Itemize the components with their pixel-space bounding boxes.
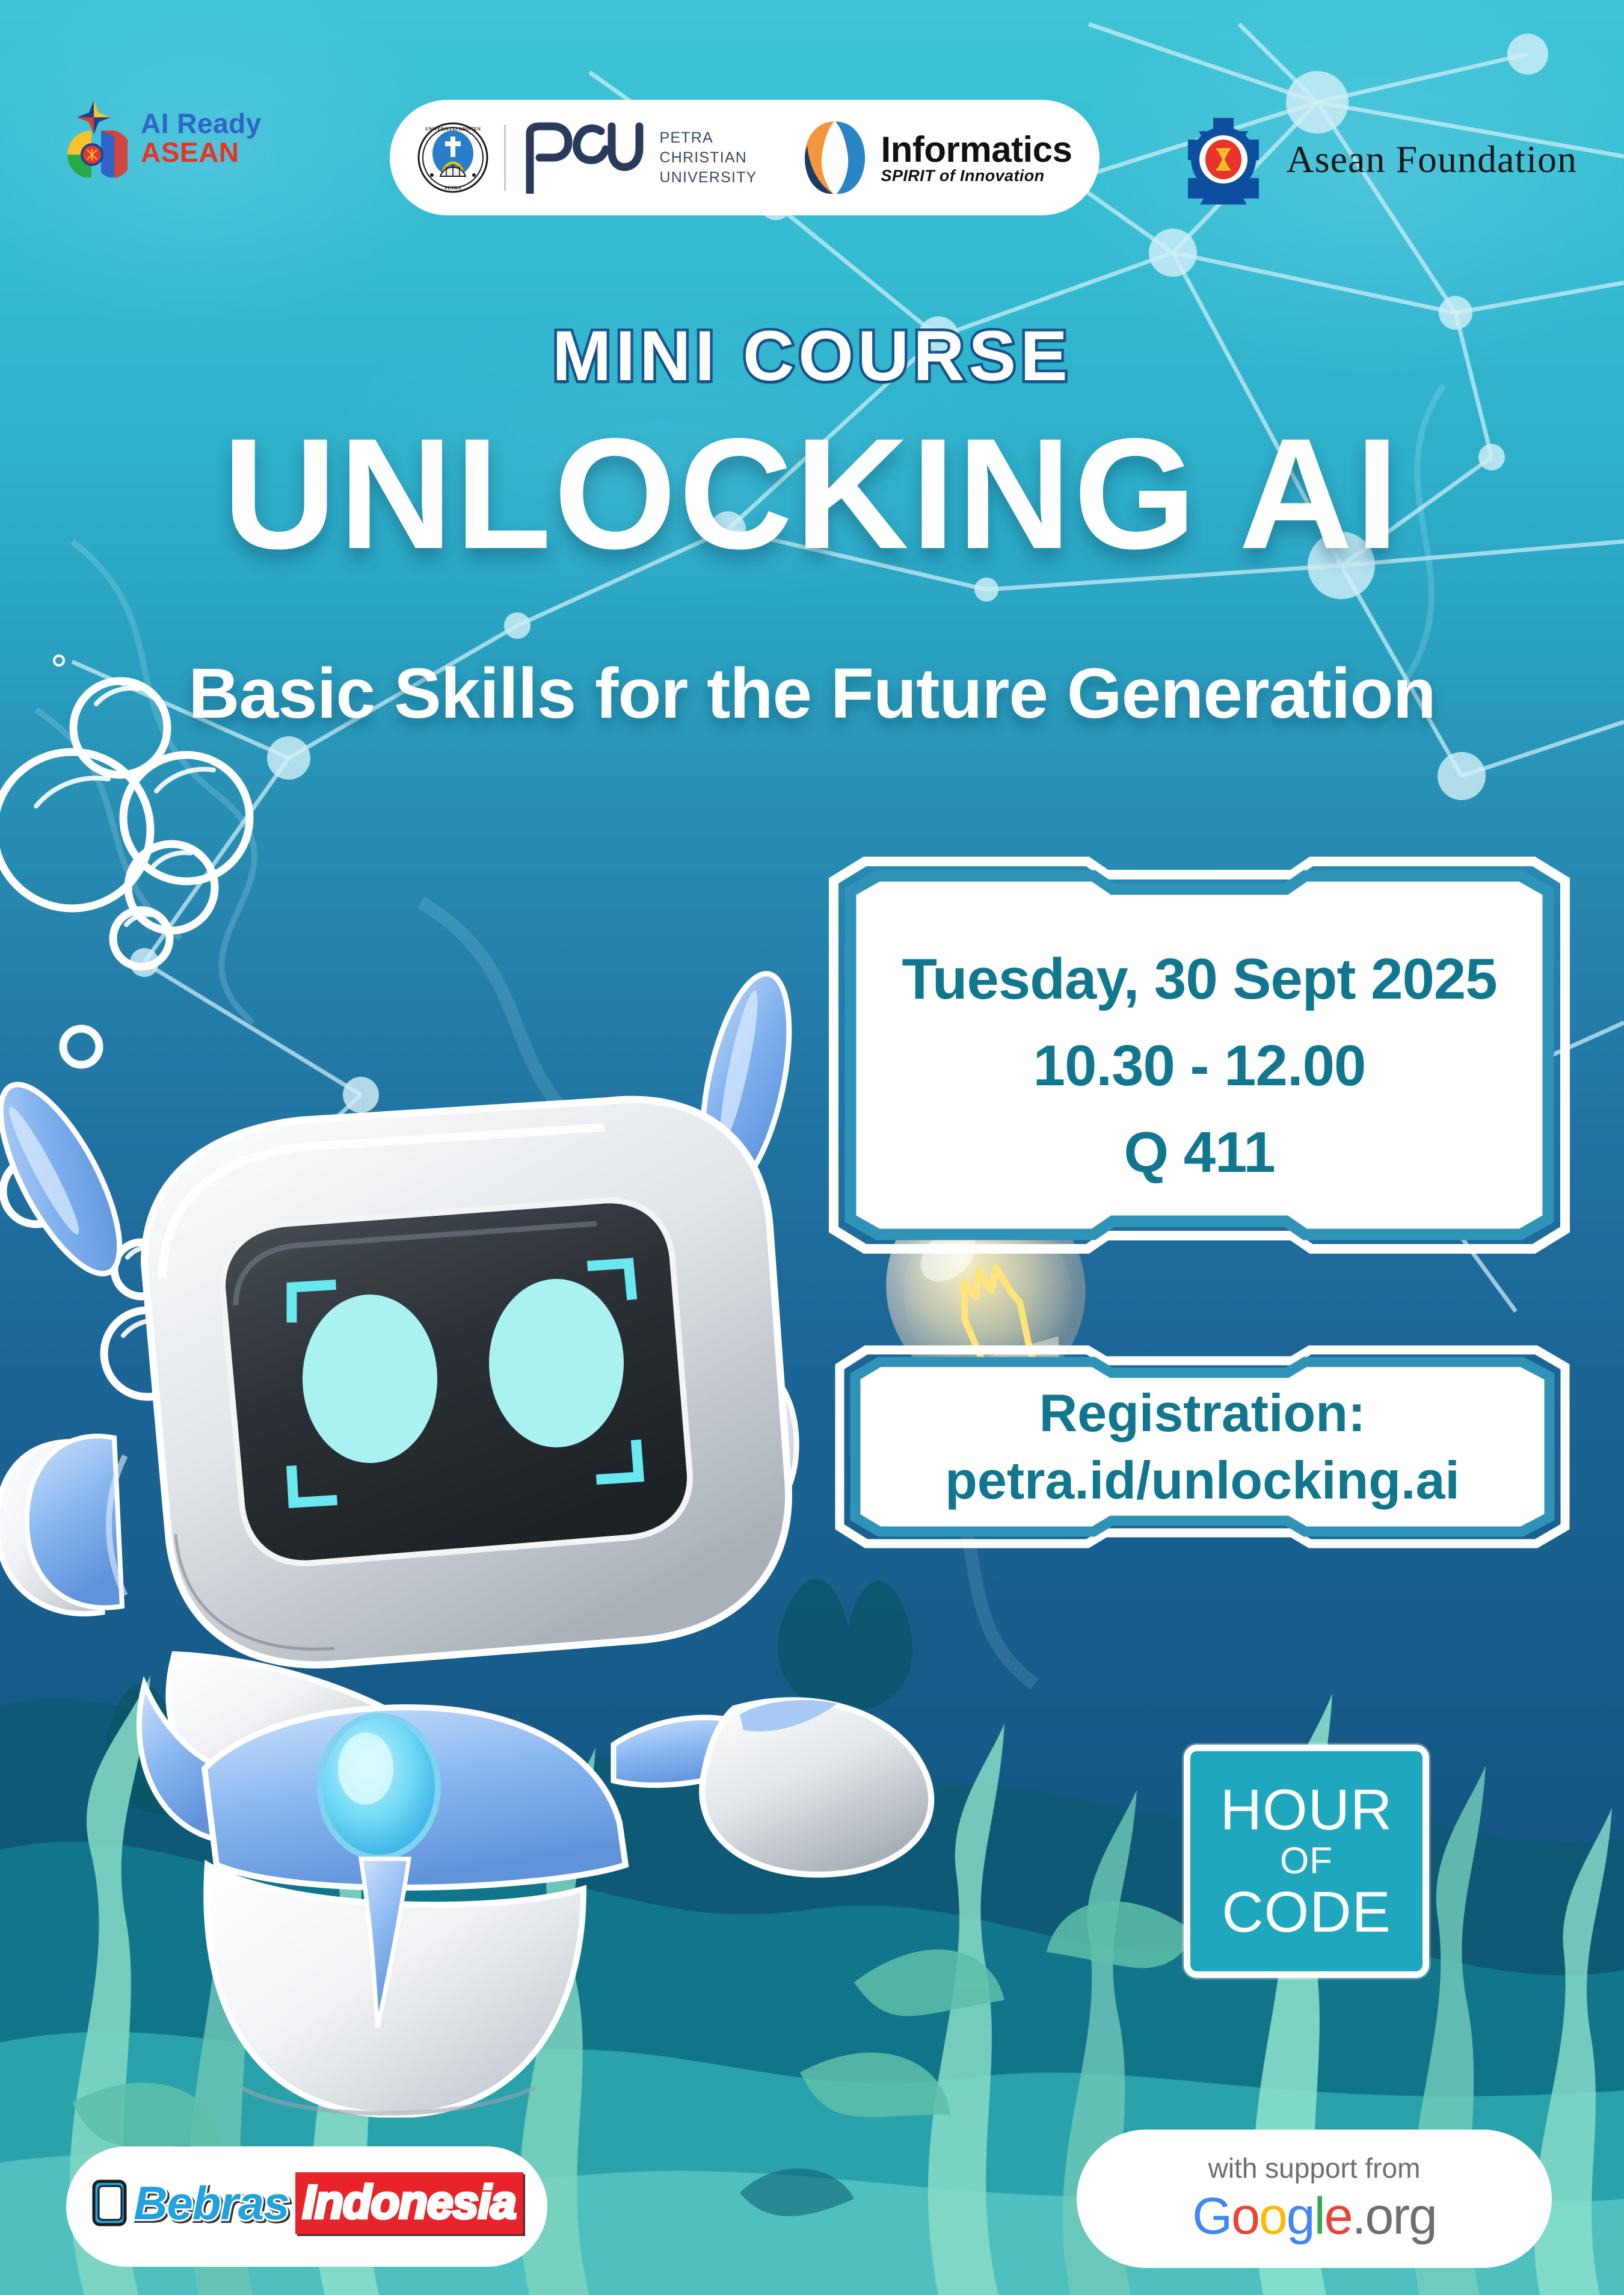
google-letter-g1: G [1192, 2187, 1231, 2246]
google-letter-o2: o [1259, 2187, 1287, 2246]
informatics-logo-icon [799, 118, 870, 197]
indonesia-word: Indonesia [295, 2172, 523, 2234]
hour-of-code-badge: HOUR OF CODE [1184, 1745, 1429, 1978]
google-letter-o1: o [1231, 2187, 1259, 2246]
page-subtitle: Basic Skills for the Future Generation [0, 653, 1624, 735]
bebras-indonesia-logo: Bebras Indonesia [66, 2146, 547, 2267]
ai-ready-line2: ASEAN [141, 138, 262, 167]
google-org-support-logo: with support from G o o g l e .org [1077, 2130, 1552, 2268]
asean-foundation-gear-icon [1178, 114, 1269, 205]
google-org-wordmark: G o o g l e .org [1192, 2187, 1436, 2246]
event-room: Q 411 [1124, 1120, 1275, 1186]
partner-logo-bar: UNIVERSITAS KRISTEN PETRA [390, 100, 1100, 215]
google-org-suffix: .org [1352, 2187, 1436, 2246]
petra-university-seal-icon: UNIVERSITAS KRISTEN PETRA [417, 122, 488, 193]
svg-text:UNIVERSITAS KRISTEN: UNIVERSITAS KRISTEN [425, 126, 480, 132]
support-text: with support from [1208, 2152, 1421, 2184]
page-title: UNLOCKING AI [0, 415, 1624, 573]
google-letter-l: l [1314, 2187, 1324, 2246]
ai-ready-asean-mark-icon [60, 99, 128, 177]
google-letter-g2: g [1287, 2187, 1314, 2246]
event-date: Tuesday, 30 Sept 2025 [902, 946, 1496, 1012]
google-letter-e: e [1324, 2187, 1352, 2246]
logo-divider [504, 125, 506, 191]
registration-box[interactable]: Registration: petra.id/unlocking.ai [835, 1345, 1570, 1548]
event-details-box: Tuesday, 30 Sept 2025 10.30 - 12.00 Q 41… [829, 857, 1570, 1254]
poster-canvas: AI Ready ASEAN UNIVERSITAS [0, 0, 1624, 2295]
pcu-text-line2: CHRISTIAN [660, 148, 757, 168]
informatics-name: Informatics [881, 131, 1072, 168]
bubbles-decoration [0, 632, 601, 1504]
registration-label: Registration: [1039, 1382, 1366, 1444]
asean-foundation-logo: Asean Foundation [1178, 114, 1578, 205]
pcu-text-line1: PETRA [660, 128, 757, 148]
eyebrow-mini-course: MINI COURSE [0, 315, 1624, 397]
asean-foundation-name: Asean Foundation [1287, 137, 1578, 182]
svg-text:PETRA: PETRA [444, 185, 461, 191]
event-time: 10.30 - 12.00 [1033, 1033, 1366, 1099]
hoc-line-hour: HOUR [1220, 1781, 1393, 1840]
bebras-book-icon [90, 2178, 130, 2228]
bebras-word: Bebras [134, 2176, 289, 2231]
hoc-line-of: OF [1280, 1842, 1333, 1880]
registration-url[interactable]: petra.id/unlocking.ai [945, 1450, 1460, 1511]
pcu-text-line3: UNIVERSITY [660, 168, 757, 188]
hoc-line-code: CODE [1222, 1883, 1391, 1942]
pcu-wordmark-icon [521, 122, 647, 194]
ai-ready-asean-logo: AI Ready ASEAN [60, 99, 262, 177]
informatics-tagline: SPIRIT of Innovation [881, 168, 1072, 185]
ai-ready-line1: AI Ready [141, 109, 262, 138]
